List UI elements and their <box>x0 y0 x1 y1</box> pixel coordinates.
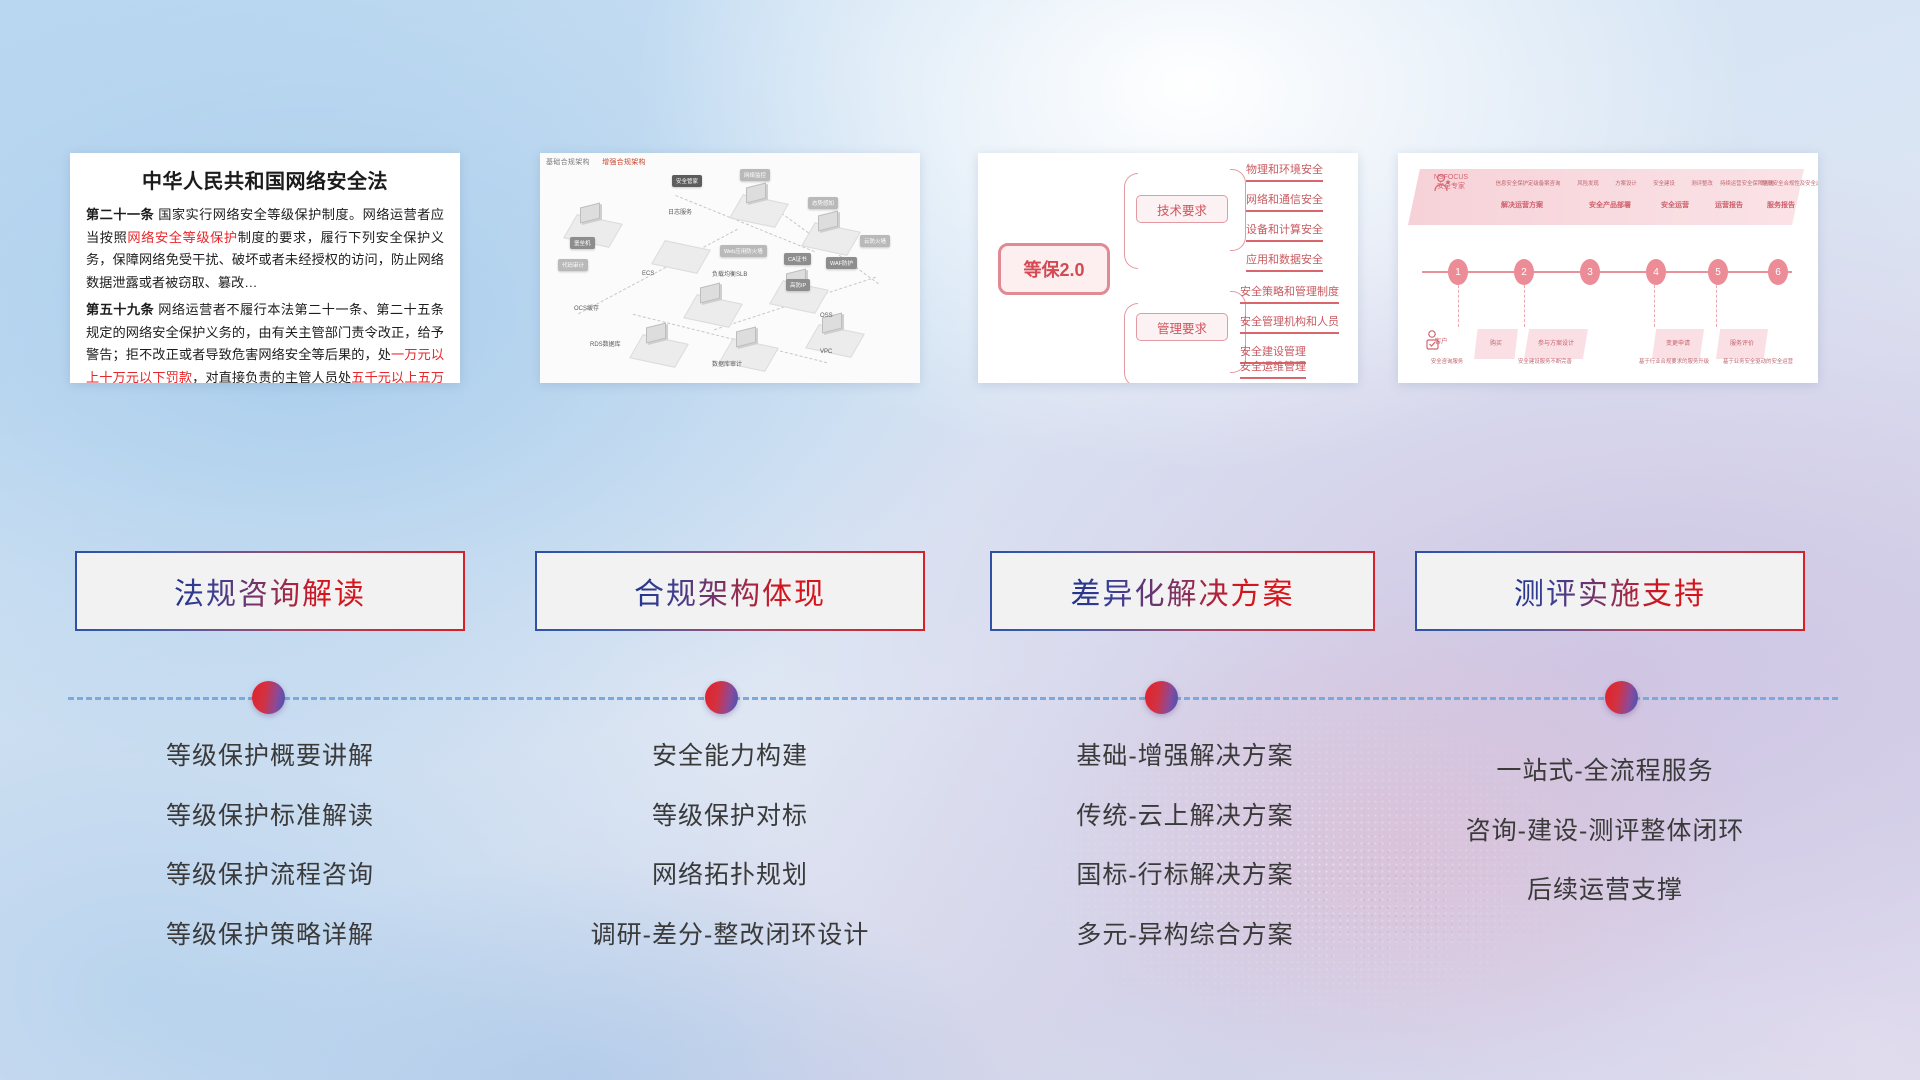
section-title-4: 测评实施支持 <box>1514 569 1706 613</box>
section-header-row: 法规咨询解读 合规架构体现 差异化解决方案 测评实施支持 等级保护概要讲解 等级… <box>0 0 1920 1080</box>
timeline-dot-4[interactable] <box>1605 681 1638 714</box>
section-header-box-4[interactable]: 测评实施支持 <box>1415 551 1805 631</box>
list-item: 等级保护标准解读 <box>75 795 465 838</box>
section-header-box-3[interactable]: 差异化解决方案 <box>990 551 1375 631</box>
list-item: 多元-异构综合方案 <box>985 914 1385 957</box>
list-item: 国标-行标解决方案 <box>985 854 1385 897</box>
list-item: 等级保护策略详解 <box>75 914 465 957</box>
list-item: 一站式-全流程服务 <box>1400 750 1810 793</box>
list-item: 安全能力构建 <box>530 735 930 778</box>
timeline-dot-3[interactable] <box>1145 681 1178 714</box>
section-list-2: 安全能力构建 等级保护对标 网络拓扑规划 调研-差分-整改闭环设计 <box>530 735 930 973</box>
list-item: 等级保护流程咨询 <box>75 854 465 897</box>
list-item: 基础-增强解决方案 <box>985 735 1385 778</box>
section-title-1: 法规咨询解读 <box>174 569 366 613</box>
timeline-dot-1[interactable] <box>252 681 285 714</box>
section-list-3: 基础-增强解决方案 传统-云上解决方案 国标-行标解决方案 多元-异构综合方案 <box>985 735 1385 973</box>
list-item: 咨询-建设-测评整体闭环 <box>1400 810 1810 853</box>
list-item: 传统-云上解决方案 <box>985 795 1385 838</box>
section-list-4: 一站式-全流程服务 咨询-建设-测评整体闭环 后续运营支撑 <box>1400 750 1810 929</box>
list-item: 网络拓扑规划 <box>530 854 930 897</box>
section-title-2: 合规架构体现 <box>634 569 826 613</box>
section-title-3: 差异化解决方案 <box>1071 569 1295 613</box>
timeline-dot-2[interactable] <box>705 681 738 714</box>
section-header-box-1[interactable]: 法规咨询解读 <box>75 551 465 631</box>
list-item: 调研-差分-整改闭环设计 <box>530 914 930 957</box>
list-item: 等级保护对标 <box>530 795 930 838</box>
list-item: 等级保护概要讲解 <box>75 735 465 778</box>
section-header-box-2[interactable]: 合规架构体现 <box>535 551 925 631</box>
list-item: 后续运营支撑 <box>1400 869 1810 912</box>
section-list-1: 等级保护概要讲解 等级保护标准解读 等级保护流程咨询 等级保护策略详解 <box>75 735 465 973</box>
timeline-dashed-line <box>68 697 1838 700</box>
